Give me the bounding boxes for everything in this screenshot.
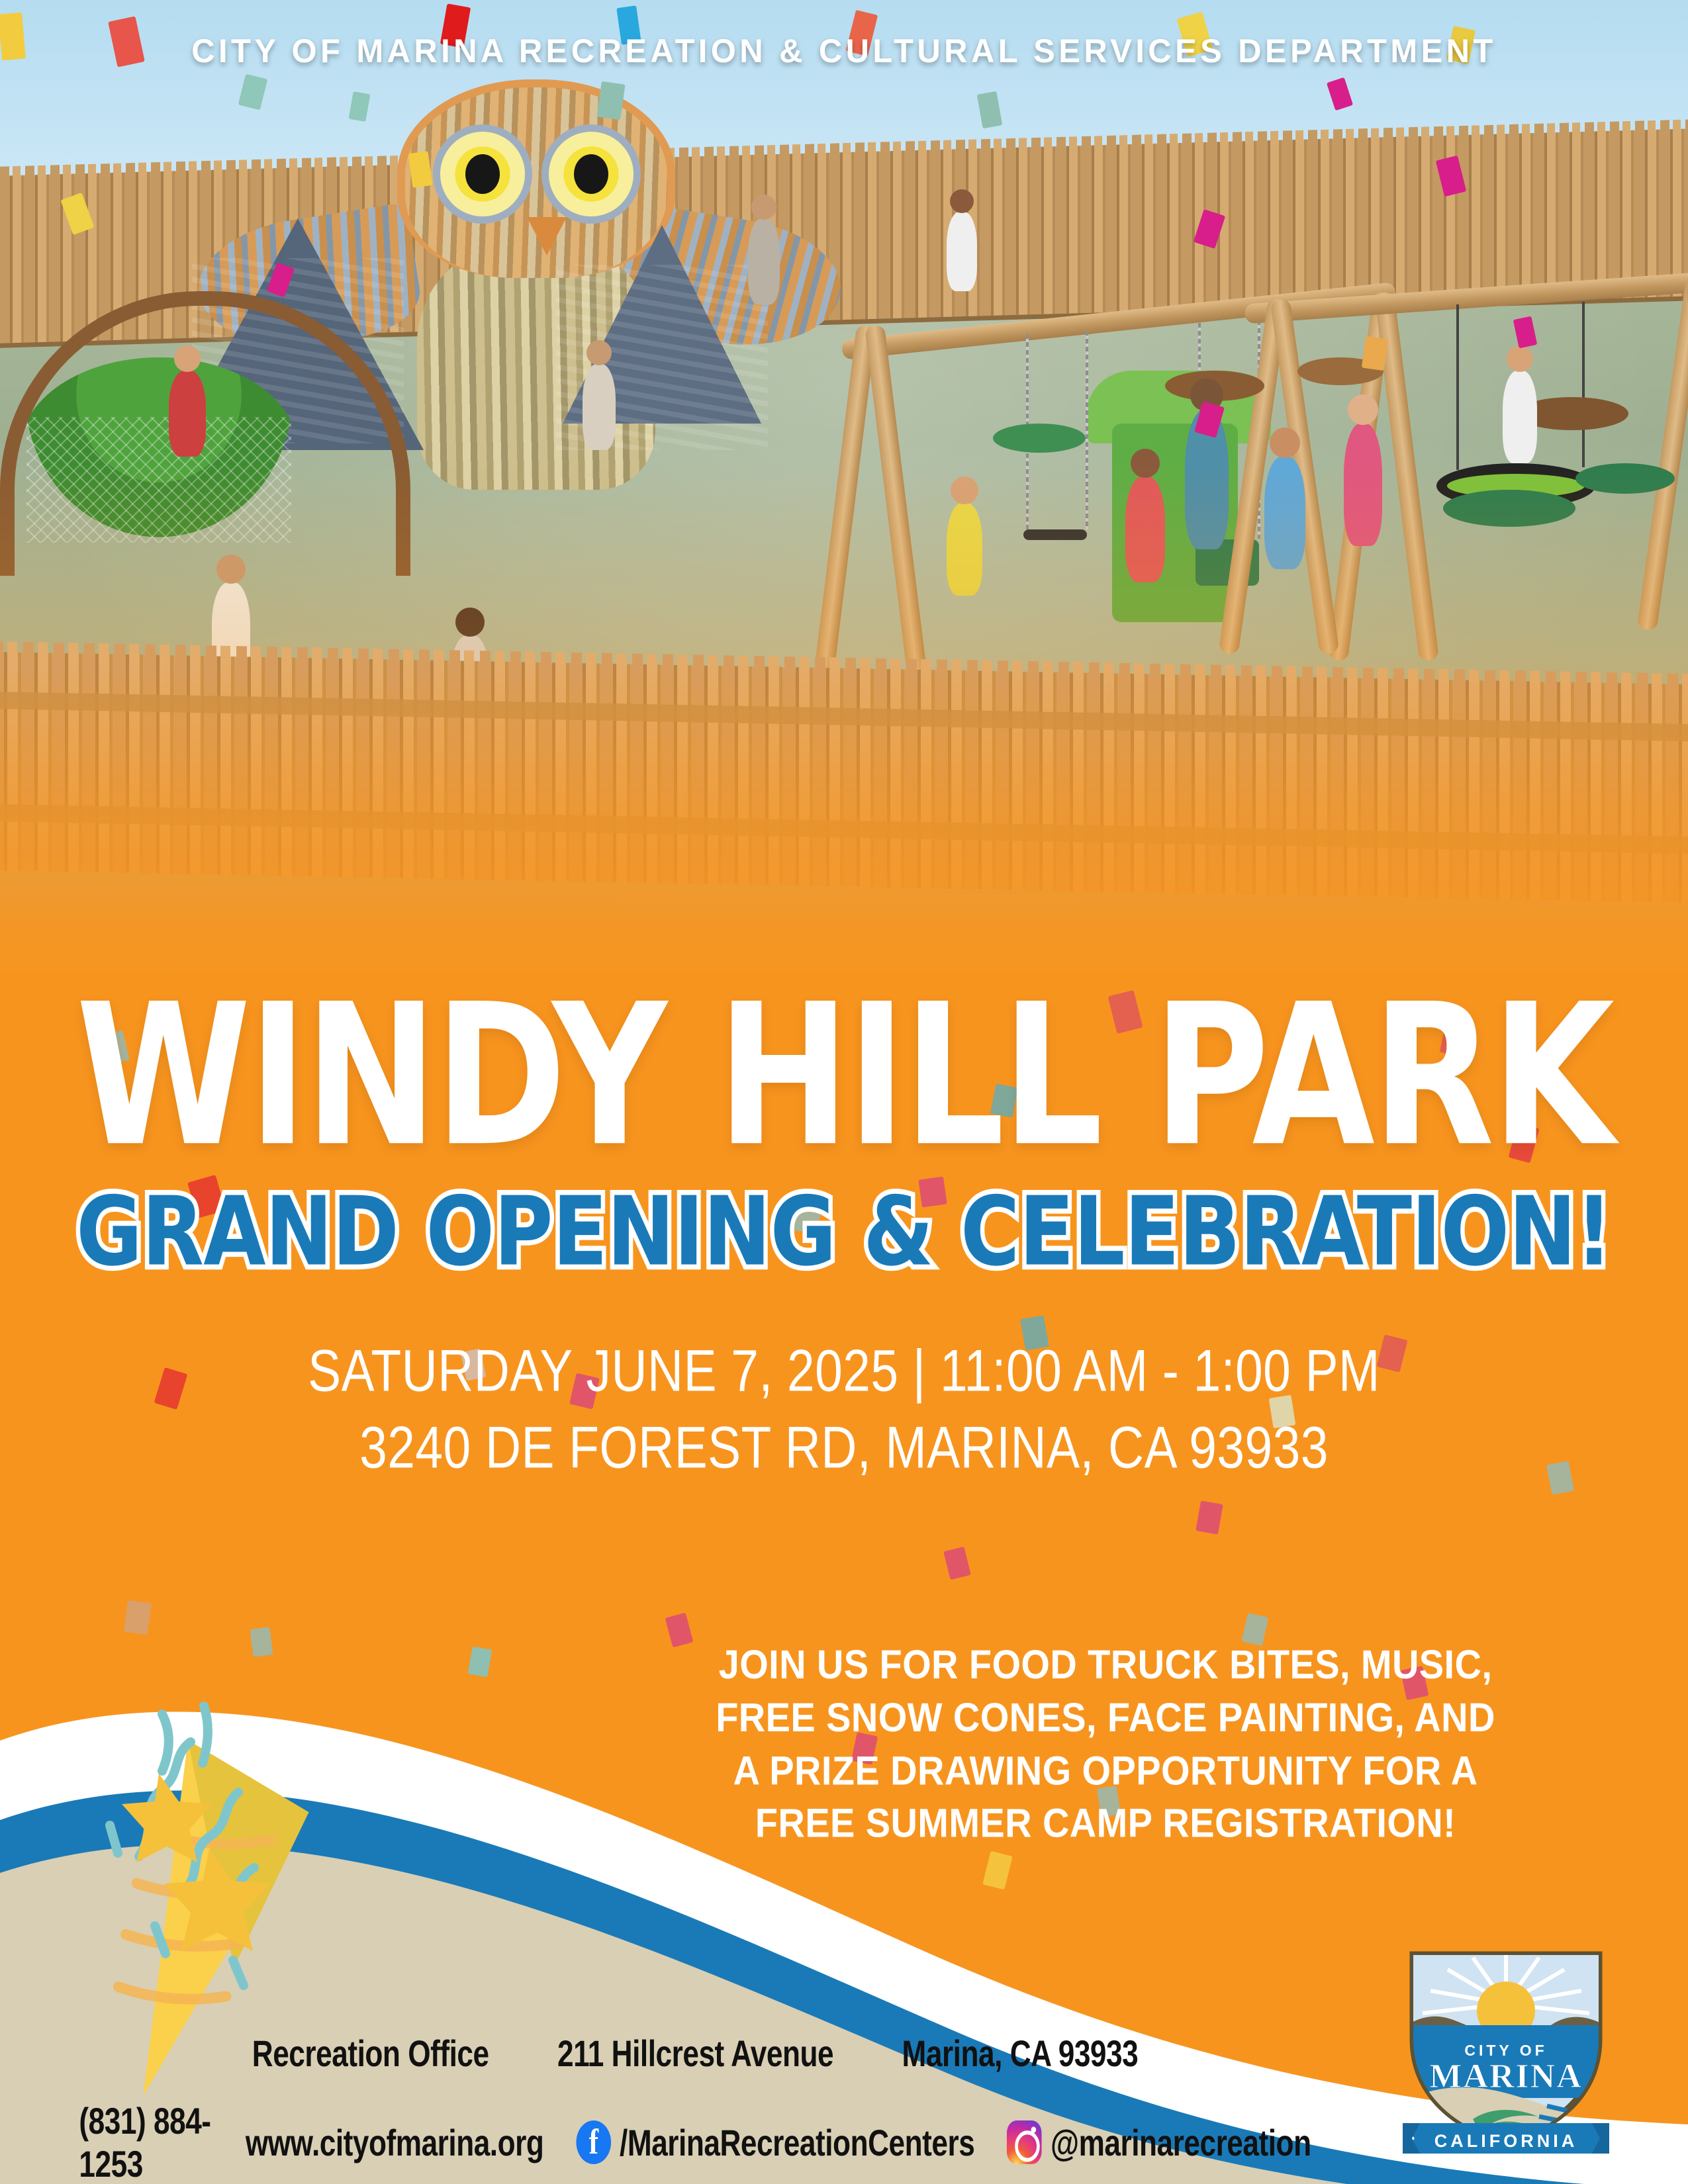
footer-website-link[interactable]: www.cityofmarina.org bbox=[246, 2121, 543, 2164]
child-head bbox=[174, 345, 201, 372]
child-figure bbox=[947, 212, 977, 291]
log-table bbox=[993, 424, 1086, 453]
child-head bbox=[1507, 345, 1533, 372]
logo-city-of-text: CITY OF bbox=[1464, 2042, 1547, 2059]
description-line: JOIN US FOR FOOD TRUCK BITES, MUSIC, bbox=[675, 1638, 1536, 1691]
footer-contact-row: (831) 884-1253 www.cityofmarina.org /Mar… bbox=[79, 2099, 1311, 2184]
photo-orange-fade bbox=[0, 463, 1688, 979]
child-figure bbox=[1503, 371, 1537, 463]
confetti-piece bbox=[250, 1627, 273, 1657]
footer-citystatezip-label: Marina, CA 93933 bbox=[902, 2032, 1139, 2075]
child-head bbox=[751, 195, 776, 220]
nest-swing-rope bbox=[1456, 304, 1459, 470]
child-figure bbox=[583, 364, 616, 450]
event-datetime: SATURDAY JUNE 7, 2025 | 11:00 AM - 1:00 … bbox=[34, 1337, 1654, 1406]
description-line: FREE SNOW CONES, FACE PAINTING, AND bbox=[675, 1692, 1536, 1745]
logo-california-text: CALIFORNIA bbox=[1434, 2131, 1577, 2151]
page-title: WINDY HILL PARK bbox=[9, 978, 1680, 1173]
owl-eye-left bbox=[433, 124, 532, 224]
swing-beam bbox=[1244, 272, 1688, 324]
child-head bbox=[1348, 394, 1378, 425]
facebook-link[interactable]: /MarinaRecreationCenters bbox=[576, 2120, 974, 2164]
city-of-marina-logo: CITY OF MARINA CALIFORNIA bbox=[1374, 1926, 1638, 2158]
footer-office-label: Recreation Office bbox=[252, 2032, 489, 2075]
owl-beak bbox=[527, 217, 567, 255]
description-line: A PRIZE DRAWING OPPORTUNITY FOR A bbox=[675, 1745, 1536, 1797]
footer-phone[interactable]: (831) 884-1253 bbox=[79, 2099, 213, 2184]
facebook-icon[interactable] bbox=[576, 2120, 611, 2164]
confetti-piece bbox=[124, 1600, 152, 1635]
instagram-icon[interactable] bbox=[1007, 2120, 1042, 2164]
playground-photo bbox=[0, 0, 1688, 979]
footer-address-row: Recreation Office 211 Hillcrest Avenue M… bbox=[117, 2032, 1274, 2075]
owl-pupil-left bbox=[465, 154, 500, 194]
logo-marina-text: MARINA bbox=[1429, 2058, 1583, 2095]
instagram-link[interactable]: @marinarecreation bbox=[1007, 2120, 1311, 2164]
owl-pupil-right bbox=[574, 154, 608, 194]
footer-street-label: 211 Hillcrest Avenue bbox=[557, 2032, 833, 2075]
child-head bbox=[950, 189, 974, 213]
confetti-piece bbox=[596, 81, 625, 120]
instagram-handle[interactable]: @marinarecreation bbox=[1051, 2121, 1311, 2164]
event-address: 3240 DE FOREST RD, MARINA, CA 93933 bbox=[34, 1414, 1654, 1482]
description-line: FREE SUMMER CAMP REGISTRATION! bbox=[675, 1797, 1536, 1850]
child-head bbox=[586, 340, 612, 365]
flyer-page: CITY OF MARINA RECREATION & CULTURAL SER… bbox=[0, 0, 1688, 2184]
child-head bbox=[1270, 428, 1300, 458]
child-figure bbox=[748, 218, 780, 304]
owl-eye-right bbox=[541, 124, 641, 224]
child-figure bbox=[169, 371, 206, 457]
page-subtitle: GRAND OPENING & CELEBRATION! bbox=[0, 1176, 1688, 1287]
confetti-piece bbox=[1362, 336, 1388, 371]
department-header: CITY OF MARINA RECREATION & CULTURAL SER… bbox=[17, 32, 1671, 70]
event-description: JOIN US FOR FOOD TRUCK BITES, MUSIC, FRE… bbox=[675, 1638, 1536, 1850]
nest-swing-rope bbox=[1582, 302, 1585, 467]
facebook-handle[interactable]: /MarinaRecreationCenters bbox=[620, 2121, 974, 2164]
